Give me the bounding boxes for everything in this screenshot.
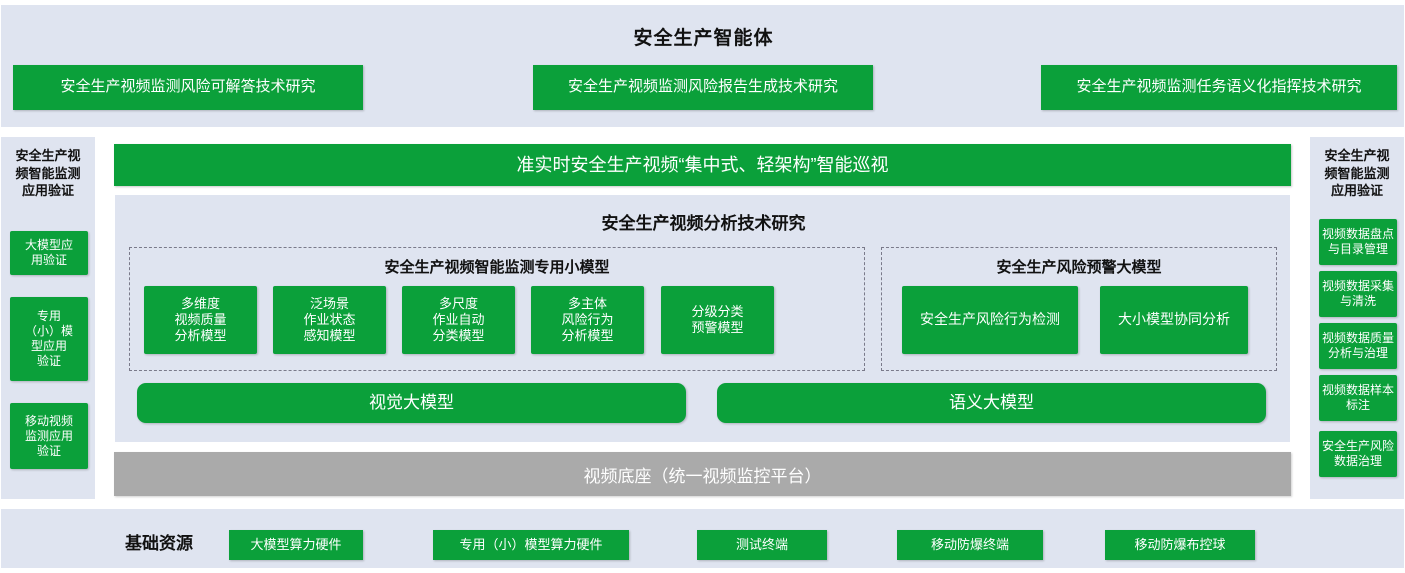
top-band: 安全生产智能体 安全生产视频监测风险可解答技术研究 安全生产视频监测风险报告生成… (0, 4, 1405, 128)
chip-line: 多主体 (561, 296, 613, 312)
small-model-group-title: 安全生产视频智能监测专用小模型 (130, 256, 864, 277)
chip-line: 验证 (25, 354, 73, 369)
bottom-band-title: 基础资源 (125, 529, 193, 554)
right-chip-data-inventory[interactable]: 视频数据盘点 与目录管理 (1319, 219, 1397, 265)
chip-line: 视频质量 (174, 312, 226, 328)
chip-line: 视频数据质量 (1322, 331, 1394, 346)
right-chip-data-annotation[interactable]: 视频数据样本 标注 (1319, 375, 1397, 421)
top-chip-semantic-command[interactable]: 安全生产视频监测任务语义化指挥技术研究 (1041, 65, 1397, 110)
chip-line: 验证 (25, 444, 73, 459)
large-model-group: 安全生产风险预警大模型 安全生产风险行为检测 大小模型协同分析 (881, 247, 1277, 371)
chip-line: 与目录管理 (1322, 242, 1394, 257)
chip-line: 标注 (1322, 398, 1394, 413)
research-panel: 安全生产视频分析技术研究 安全生产视频智能监测专用小模型 多维度 视频质量 分析… (114, 194, 1291, 443)
resource-test-terminal[interactable]: 测试终端 (697, 530, 827, 560)
chip-line: 数据治理 (1322, 454, 1394, 469)
chip-line: 分级分类 (691, 304, 743, 320)
chip-line: 监测应用 (25, 429, 73, 444)
left-title-line-2: 频智能监测 (5, 165, 91, 183)
research-panel-title: 安全生产视频分析技术研究 (115, 209, 1292, 234)
right-chip-risk-data-governance[interactable]: 安全生产风险 数据治理 (1319, 431, 1397, 477)
resource-mobile-explosion-proof-terminal[interactable]: 移动防爆终端 (897, 530, 1043, 560)
right-title-line-2: 频智能监测 (1314, 165, 1400, 183)
chip-line: 大模型应 (25, 238, 73, 253)
small-model-auto-classify[interactable]: 多尺度 作业自动 分类模型 (402, 286, 515, 354)
chip-line: 分析模型 (174, 328, 226, 344)
large-model-group-title: 安全生产风险预警大模型 (882, 256, 1276, 277)
chip-line: 用验证 (25, 253, 73, 268)
right-title-line-1: 安全生产视 (1314, 147, 1400, 165)
chip-line: （小）模 (25, 324, 73, 339)
chip-line: 分类模型 (432, 328, 484, 344)
chip-line: 视频数据采集 (1322, 279, 1394, 294)
chip-line: 移动视频 (25, 414, 73, 429)
page-title: 安全生产智能体 (1, 23, 1405, 50)
small-model-graded-alert[interactable]: 分级分类 预警模型 (661, 286, 774, 354)
resource-mobile-explosion-proof-ptz[interactable]: 移动防爆布控球 (1105, 530, 1255, 560)
chip-line: 视频数据样本 (1322, 383, 1394, 398)
resource-small-model-hardware[interactable]: 专用（小）模型算力硬件 (433, 530, 629, 560)
chip-line: 分析与治理 (1322, 346, 1394, 361)
chip-line: 风险行为 (561, 312, 613, 328)
large-model-risk-detection[interactable]: 安全生产风险行为检测 (902, 286, 1078, 354)
right-chip-data-quality[interactable]: 视频数据质量 分析与治理 (1319, 323, 1397, 369)
chip-line: 多尺度 (432, 296, 484, 312)
left-sidebar-title: 安全生产视 频智能监测 应用验证 (1, 137, 95, 200)
top-chip-risk-explainable[interactable]: 安全生产视频监测风险可解答技术研究 (13, 65, 363, 110)
left-title-line-1: 安全生产视 (5, 147, 91, 165)
large-model-collaborative-analysis[interactable]: 大小模型协同分析 (1100, 286, 1248, 354)
architecture-diagram: 安全生产智能体 安全生产视频监测风险可解答技术研究 安全生产视频监测风险报告生成… (0, 0, 1405, 573)
foundation-model-semantic[interactable]: 语义大模型 (717, 383, 1266, 423)
small-model-work-state[interactable]: 泛场景 作业状态 感知模型 (273, 286, 386, 354)
middle-band: 安全生产视 频智能监测 应用验证 大模型应 用验证 专用 （小）模 型应用 验证 (0, 132, 1405, 504)
center-stack: 准实时安全生产视频“集中式、轻架构”智能巡视 安全生产视频分析技术研究 安全生产… (104, 136, 1301, 500)
right-sidebar-title: 安全生产视 频智能监测 应用验证 (1310, 137, 1404, 200)
right-title-line-3: 应用验证 (1314, 182, 1400, 200)
banner-intelligent-patrol[interactable]: 准实时安全生产视频“集中式、轻架构”智能巡视 (114, 144, 1291, 186)
chip-line: 专用 (25, 309, 73, 324)
chip-line: 视频数据盘点 (1322, 227, 1394, 242)
left-chip-small-model-validation[interactable]: 专用 （小）模 型应用 验证 (10, 297, 88, 381)
video-base-platform[interactable]: 视频底座（统一视频监控平台） (114, 452, 1291, 496)
left-title-line-3: 应用验证 (5, 182, 91, 200)
chip-line: 感知模型 (303, 328, 355, 344)
resource-large-model-hardware[interactable]: 大模型算力硬件 (229, 530, 363, 560)
left-chip-large-model-validation[interactable]: 大模型应 用验证 (10, 231, 88, 275)
chip-line: 作业自动 (432, 312, 484, 328)
left-chip-mobile-video-validation[interactable]: 移动视频 监测应用 验证 (10, 403, 88, 469)
left-sidebar: 安全生产视 频智能监测 应用验证 大模型应 用验证 专用 （小）模 型应用 验证 (0, 136, 96, 500)
chip-line: 泛场景 (303, 296, 355, 312)
top-chip-risk-report[interactable]: 安全生产视频监测风险报告生成技术研究 (533, 65, 873, 110)
chip-line: 分析模型 (561, 328, 613, 344)
chip-line: 预警模型 (691, 320, 743, 336)
foundation-model-vision[interactable]: 视觉大模型 (137, 383, 686, 423)
small-model-risk-behavior[interactable]: 多主体 风险行为 分析模型 (531, 286, 644, 354)
right-chip-data-collection[interactable]: 视频数据采集 与清洗 (1319, 271, 1397, 317)
chip-line: 多维度 (174, 296, 226, 312)
bottom-band: 基础资源 大模型算力硬件 专用（小）模型算力硬件 测试终端 移动防爆终端 移动防… (0, 508, 1405, 569)
small-model-group: 安全生产视频智能监测专用小模型 多维度 视频质量 分析模型 泛场景 作业状态 感… (129, 247, 865, 371)
small-model-video-quality[interactable]: 多维度 视频质量 分析模型 (144, 286, 257, 354)
chip-line: 与清洗 (1322, 294, 1394, 309)
chip-line: 作业状态 (303, 312, 355, 328)
chip-line: 安全生产风险 (1322, 439, 1394, 454)
right-sidebar: 安全生产视 频智能监测 应用验证 视频数据盘点 与目录管理 视频数据采集 与清洗… (1309, 136, 1405, 500)
chip-line: 型应用 (25, 339, 73, 354)
